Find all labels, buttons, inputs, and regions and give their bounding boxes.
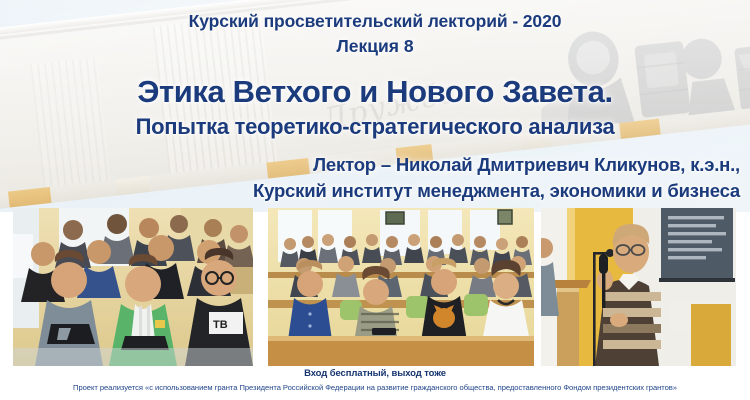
photo-audience-students-closeup: ТВ xyxy=(13,208,253,366)
photo-lecture-hall-wide xyxy=(268,208,534,366)
lecturer-name: Лектор – Николай Дмитриевич Кликунов, к.… xyxy=(313,154,740,176)
poster-captions: Вход бесплатный, выход тоже Проект реали… xyxy=(0,366,750,400)
series-line: Курский просветительский лекторий - 2020 xyxy=(0,11,750,32)
lecture-number: Лекция 8 xyxy=(0,36,750,57)
poster-header-text: Курский просветительский лекторий - 2020… xyxy=(0,0,750,212)
photo-lecturer-with-microphone xyxy=(541,208,736,366)
page-subtitle: Попытка теоретико-стратегического анализ… xyxy=(0,114,750,140)
photo-strip: ТВ xyxy=(0,206,750,368)
svg-text:ТВ: ТВ xyxy=(213,319,228,331)
lecture-poster: Дружба xyxy=(0,0,750,400)
lecturer-affiliation: Курский институт менеджмента, экономики … xyxy=(253,180,740,202)
admission-caption: Вход бесплатный, выход тоже xyxy=(0,368,750,379)
page-title: Этика Ветхого и Нового Завета. xyxy=(0,74,750,110)
grant-notice-caption: Проект реализуется «с использованием гра… xyxy=(0,383,750,392)
